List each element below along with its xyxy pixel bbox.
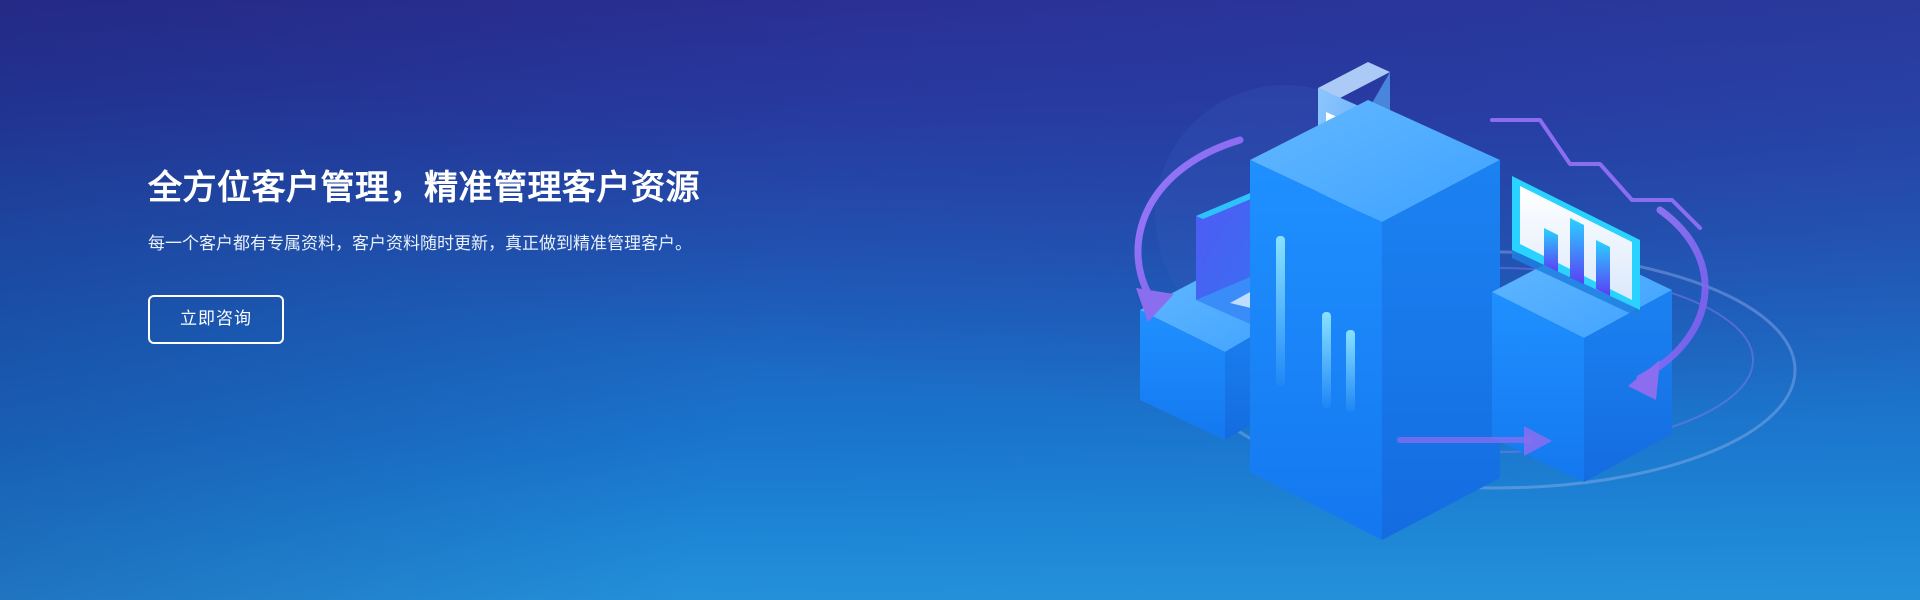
glow-bar-2 bbox=[1322, 312, 1331, 408]
page-title: 全方位客户管理，精准管理客户资源 bbox=[148, 168, 788, 209]
glow-bar-1 bbox=[1276, 236, 1285, 386]
glow-bar-3 bbox=[1346, 330, 1355, 412]
hero-banner: 全方位客户管理，精准管理客户资源 每一个客户都有专属资料，客户资料随时更新，真正… bbox=[0, 0, 1920, 600]
consult-now-button[interactable]: 立即咨询 bbox=[148, 295, 284, 343]
hero-illustration bbox=[1100, 0, 1920, 600]
center-pedestal bbox=[1250, 100, 1500, 540]
page-subtitle: 每一个客户都有专属资料，客户资料随时更新，真正做到精准管理客户。 bbox=[148, 209, 748, 257]
hero-copy: 全方位客户管理，精准管理客户资源 每一个客户都有专属资料，客户资料随时更新，真正… bbox=[148, 168, 788, 344]
